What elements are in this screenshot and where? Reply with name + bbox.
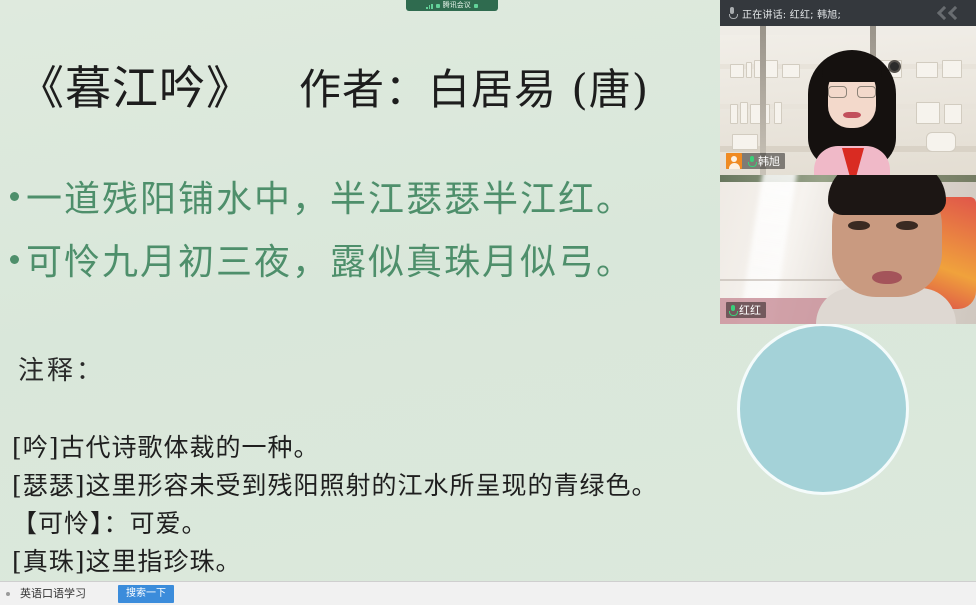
decorative-circle <box>737 323 909 495</box>
participant-name: 红红 <box>739 305 761 316</box>
participant-figure <box>808 50 896 175</box>
poem-line-text: 可怜九月初三夜，露似真珠月似弓。 <box>26 233 634 285</box>
meeting-status-pill[interactable]: 腾讯会议 <box>406 0 498 11</box>
microphone-icon <box>728 7 736 19</box>
taskbar: 英语口语学习 搜索一下 <box>0 581 976 605</box>
bullet-icon <box>10 192 19 201</box>
eye <box>896 221 918 230</box>
poem-title: 《暮江吟》 <box>18 61 253 115</box>
fringe <box>822 58 882 82</box>
poem-line-text: 一道残阳铺水中，半江瑟瑟半江红。 <box>26 170 634 222</box>
signal-bars-icon <box>426 3 433 9</box>
mouth <box>872 271 902 284</box>
video-tile[interactable]: 韩旭 <box>720 26 976 175</box>
green-status-dot-icon <box>436 4 440 8</box>
participant-name-tag: 韩旭 <box>726 153 785 169</box>
bullet-icon <box>10 255 19 264</box>
speaking-label: 正在讲话: 红红; 韩旭; <box>742 6 841 21</box>
taskbar-item-label[interactable]: 英语口语学习 <box>20 588 86 599</box>
video-panel: 正在讲话: 红红; 韩旭; <box>720 0 976 324</box>
meeting-pill-label: 腾讯会议 <box>443 2 471 9</box>
note-line: 【可怜】：可爱。 <box>12 504 208 540</box>
video-tile[interactable]: 红红 <box>720 175 976 324</box>
note-line: [真珠]这里指珍珠。 <box>12 542 242 578</box>
red-scarf <box>842 148 864 175</box>
hair <box>828 175 946 215</box>
lips <box>843 112 861 118</box>
screen-root: 《暮江吟》作者：白居易 (唐) 一道残阳铺水中，半江瑟瑟半江红。 可怜九月初三夜… <box>0 0 976 605</box>
poem-line: 可怜九月初三夜，露似真珠月似弓。 <box>10 233 634 285</box>
video-panel-header: 正在讲话: 红红; 韩旭; <box>720 0 976 26</box>
microphone-icon <box>748 156 755 167</box>
double-chevron-icon[interactable] <box>939 8 960 18</box>
microphone-icon <box>729 305 736 316</box>
participant-name-tag: 红红 <box>726 302 766 318</box>
notes-heading: 注释： <box>18 350 105 387</box>
slide-title: 《暮江吟》作者：白居易 (唐) <box>18 52 649 118</box>
participant-name: 韩旭 <box>758 156 780 167</box>
note-line: [吟]古代诗歌体裁的一种。 <box>12 428 320 464</box>
user-avatar-icon <box>726 153 742 169</box>
green-status-dot-icon <box>474 4 478 8</box>
eye <box>848 221 870 230</box>
note-line: [瑟瑟]这里形容未受到残阳照射的江水所呈现的青绿色。 <box>12 466 658 502</box>
poem-author: 作者：白居易 (唐) <box>299 65 649 114</box>
bullet-icon <box>6 592 10 596</box>
search-button[interactable]: 搜索一下 <box>118 585 174 603</box>
glasses <box>828 86 876 98</box>
poem-line: 一道残阳铺水中，半江瑟瑟半江红。 <box>10 170 634 222</box>
